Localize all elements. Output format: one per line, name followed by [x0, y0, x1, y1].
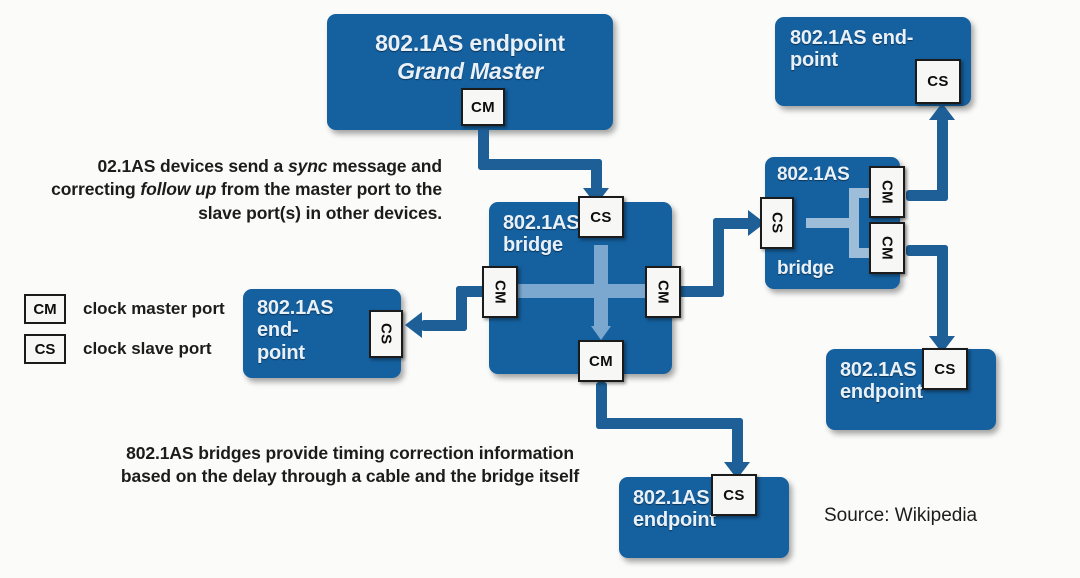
connector-rbridge-to-bottomright-seg2: [937, 245, 948, 340]
port-endpoint-bottom-cs[interactable]: CS: [711, 474, 757, 516]
port-center-bridge-cm-left[interactable]: CM: [482, 266, 518, 318]
connector-bridge-to-bottom-seg2: [596, 418, 743, 429]
note-bottom: 802.1AS bridges provide timing correctio…: [118, 442, 582, 489]
legend-item-cm: CM clock master port: [24, 294, 225, 324]
port-grand-master-cm[interactable]: CM: [461, 88, 505, 126]
legend-text-cm: clock master port: [83, 299, 225, 319]
port-right-bridge-cm-bottom[interactable]: CM: [869, 222, 905, 274]
internal-arrow-horizontal-stem: [514, 284, 654, 298]
port-center-bridge-cm-right[interactable]: CM: [645, 266, 681, 318]
arrowhead-bridge-to-left: [405, 312, 422, 338]
port-endpoint-top-right-cs[interactable]: CS: [915, 59, 961, 104]
port-center-bridge-cs[interactable]: CS: [578, 196, 624, 238]
node-endpoint-bottom[interactable]: 802.1AS endpoint: [619, 477, 789, 558]
port-center-bridge-cm-bottom[interactable]: CM: [578, 340, 624, 382]
arrowhead-rbridge-to-topright: [929, 103, 955, 120]
port-endpoint-bottom-right-cs[interactable]: CS: [922, 348, 968, 390]
rbridge-internal-branch-top: [849, 188, 871, 198]
connector-gm-to-bridge-seg2: [478, 159, 602, 170]
connector-bridge-to-left-seg3: [421, 320, 467, 331]
endpoint-bottom-right-label: 802.1AS endpoint: [840, 359, 923, 404]
center-bridge-title: 802.1AS bridge: [503, 212, 579, 257]
endpoint-bottom-label: 802.1AS endpoint: [633, 487, 716, 532]
right-bridge-title: 802.1AS: [777, 164, 850, 185]
connector-bridge-to-rbridge-seg3: [713, 218, 751, 229]
legend-text-cs: clock slave port: [83, 339, 212, 359]
connector-bridge-to-bottom-seg3: [732, 418, 743, 466]
internal-arrowhead-down: [591, 326, 611, 340]
legend-key-cm: CM: [24, 294, 66, 324]
port-right-bridge-cs[interactable]: CS: [760, 197, 794, 249]
right-bridge-subtitle: bridge: [777, 258, 834, 279]
grand-master-title: 802.1AS endpoint: [327, 31, 613, 57]
note-top-left: 02.1AS devices send a sync message and c…: [10, 155, 442, 225]
legend-key-cs: CS: [24, 334, 66, 364]
node-endpoint-bottom-right[interactable]: 802.1AS endpoint: [826, 349, 996, 430]
grand-master-subtitle: Grand Master: [327, 59, 613, 85]
connector-rbridge-to-topright-seg2: [937, 118, 948, 201]
endpoint-left-label: 802.1AS end- point: [257, 297, 333, 364]
connector-bridge-to-rbridge-seg2: [713, 218, 724, 297]
port-endpoint-left-cs[interactable]: CS: [369, 310, 403, 358]
port-right-bridge-cm-top[interactable]: CM: [869, 166, 905, 218]
source-attribution: Source: Wikipedia: [824, 505, 977, 527]
endpoint-top-right-label: 802.1AS end- point: [790, 27, 913, 72]
rbridge-internal-branch-bottom: [849, 248, 871, 258]
diagram-canvas: 802.1AS endpoint Grand Master CM 802.1AS…: [0, 0, 1080, 578]
legend-item-cs: CS clock slave port: [24, 334, 212, 364]
